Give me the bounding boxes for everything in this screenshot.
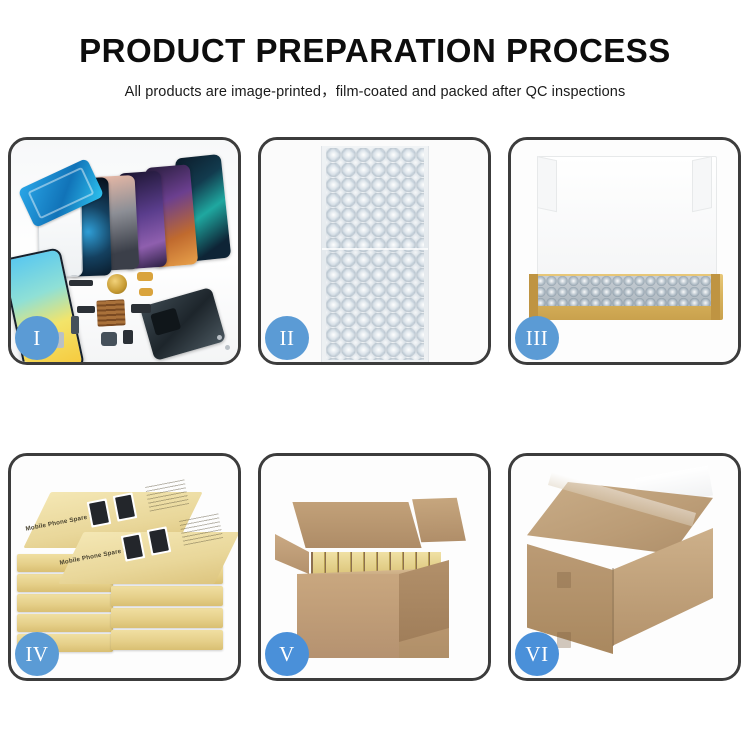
process-step-2[interactable]: II xyxy=(258,137,491,365)
process-step-1[interactable]: I xyxy=(8,137,241,365)
step-badge-5: V xyxy=(265,632,309,676)
box-lid-flap-right xyxy=(692,156,712,212)
bubble-wrap-sleeve xyxy=(321,146,429,362)
small-part xyxy=(77,306,95,313)
infographic-page: PRODUCT PREPARATION PROCESS All products… xyxy=(0,0,750,750)
small-part xyxy=(131,304,151,313)
flex-cable-part xyxy=(137,272,153,281)
carton-handle-tab xyxy=(557,572,571,588)
stacked-box xyxy=(111,630,223,650)
speaker-part xyxy=(101,332,117,346)
stacked-box xyxy=(17,614,113,632)
coil-part xyxy=(107,274,127,294)
step-badge-2: II xyxy=(265,316,309,360)
process-step-4[interactable]: Mobile Phone Spare Parts Mobile Phone Sp… xyxy=(8,453,241,681)
step-badge-4: IV xyxy=(15,632,59,676)
box-tray-edge-left xyxy=(529,274,538,320)
flex-cable-part xyxy=(139,288,153,296)
process-grid: I II xyxy=(8,137,742,681)
stacked-box xyxy=(111,586,223,606)
small-part xyxy=(69,280,93,286)
wrap-seam xyxy=(322,248,428,250)
carton-side-face xyxy=(399,560,449,642)
stacked-box xyxy=(111,608,223,628)
page-title: PRODUCT PREPARATION PROCESS xyxy=(0,34,750,69)
box-lid-flap-left xyxy=(537,156,557,212)
header: PRODUCT PREPARATION PROCESS All products… xyxy=(0,0,750,101)
process-step-6[interactable]: VI xyxy=(508,453,741,681)
carton-front-face xyxy=(297,574,399,658)
box-tray-edge-right xyxy=(711,274,720,320)
carton-seam xyxy=(612,568,614,646)
carton-right-flap xyxy=(412,498,466,543)
chip-grid-part xyxy=(96,299,125,326)
box-bubble-contents xyxy=(535,276,717,306)
box-lid xyxy=(537,156,717,286)
screw-part xyxy=(225,345,230,350)
step-badge-6: VI xyxy=(515,632,559,676)
small-part xyxy=(71,316,79,334)
process-step-3[interactable]: III xyxy=(508,137,741,365)
step-badge-1: I xyxy=(15,316,59,360)
screw-part xyxy=(217,335,222,340)
page-subtitle: All products are image-printed，film-coat… xyxy=(0,80,750,101)
step-badge-3: III xyxy=(515,316,559,360)
small-part xyxy=(123,330,133,344)
process-step-5[interactable]: V xyxy=(258,453,491,681)
carton-handle-tab xyxy=(557,632,571,648)
carton-back-flap xyxy=(292,502,421,548)
stacked-box xyxy=(17,594,113,612)
bubble-pattern-offset xyxy=(326,148,424,360)
